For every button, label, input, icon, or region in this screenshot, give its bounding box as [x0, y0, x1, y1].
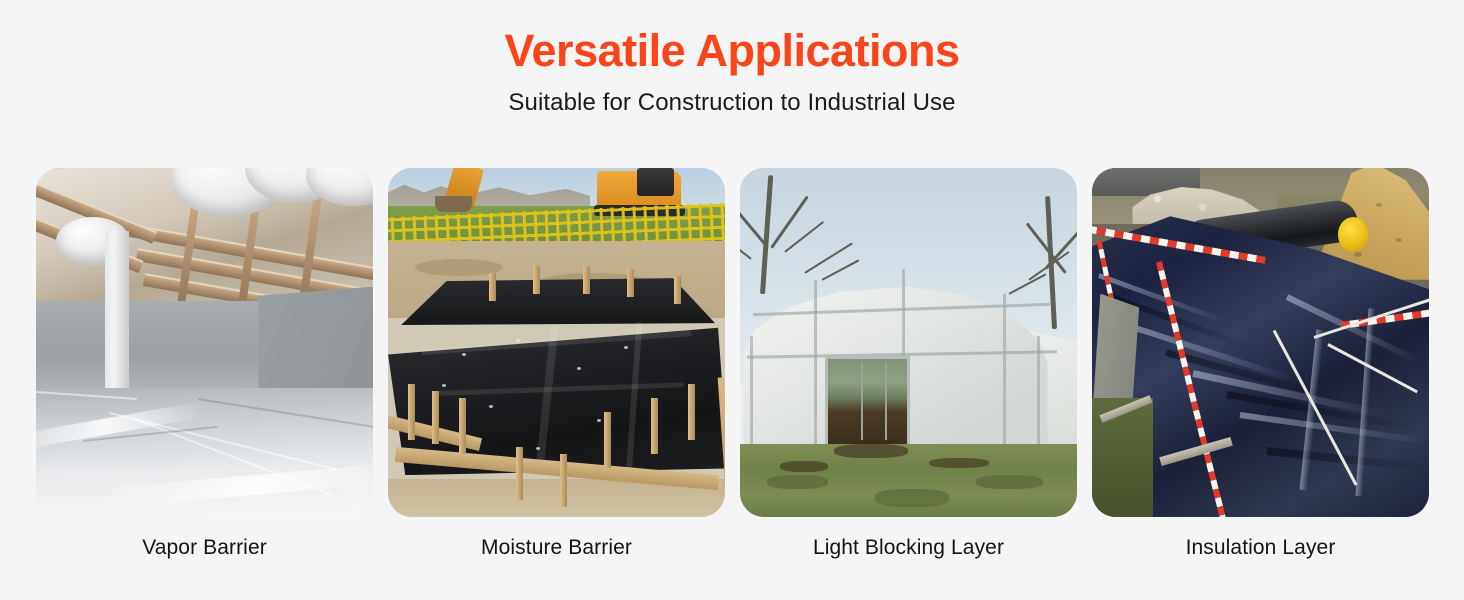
- rebar-stake: [560, 454, 567, 506]
- card-caption: Light Blocking Layer: [813, 536, 1004, 560]
- card-caption: Moisture Barrier: [481, 536, 632, 560]
- grass-tuft: [875, 489, 949, 506]
- rebar-stake: [533, 266, 540, 294]
- page-subtitle: Suitable for Construction to Industrial …: [0, 89, 1464, 118]
- sand-speck: [1376, 203, 1382, 207]
- rebar-stake: [688, 384, 695, 440]
- card-caption: Vapor Barrier: [142, 536, 267, 560]
- rebar-stake: [489, 273, 496, 301]
- application-card-insulation-layer[interactable]: Insulation Layer: [1092, 168, 1429, 560]
- poly-speck: [577, 367, 581, 370]
- sand-speck: [1354, 252, 1362, 257]
- concrete-right-wall: [258, 287, 373, 399]
- rebar-stake: [459, 398, 466, 454]
- photo-moisture-barrier: [388, 168, 725, 517]
- poly-speck: [624, 346, 628, 349]
- rebar-stake: [627, 269, 634, 297]
- rebar-stake: [674, 276, 681, 304]
- excavator-bucket: [435, 196, 472, 212]
- photo-insulation-layer: [1092, 168, 1429, 517]
- yellow-pipe-end-cap: [1338, 217, 1368, 252]
- greenhouse-frame-post: [1003, 294, 1006, 448]
- rebar-stake: [408, 384, 415, 440]
- rebar-stake: [516, 447, 523, 499]
- greenhouse-frame-post: [1037, 336, 1040, 448]
- bare-soil-patch: [834, 444, 908, 458]
- sand-speck: [1396, 238, 1402, 242]
- greenhouse-frame-post: [814, 280, 817, 448]
- doorway-frame: [907, 356, 910, 447]
- photo-vapor-barrier: [36, 168, 373, 517]
- application-cards: Vapor Barrier: [36, 168, 1428, 560]
- rebar-stake: [432, 391, 439, 443]
- card-caption: Insulation Layer: [1186, 536, 1336, 560]
- application-card-light-blocking-layer[interactable]: Light Blocking Layer: [740, 168, 1077, 560]
- grass-tuft: [976, 475, 1043, 489]
- rebar-stake: [583, 266, 590, 294]
- photo-light-blocking-layer: [740, 168, 1077, 517]
- doorway-frame: [825, 356, 828, 447]
- page-title: Versatile Applications: [0, 26, 1464, 76]
- application-card-moisture-barrier[interactable]: Moisture Barrier: [388, 168, 725, 560]
- application-card-vapor-barrier[interactable]: Vapor Barrier: [36, 168, 373, 560]
- grass-tuft: [767, 475, 828, 489]
- header: Versatile Applications Suitable for Cons…: [0, 0, 1464, 118]
- excavator-cab: [637, 168, 674, 196]
- doorway-inner-post: [861, 363, 863, 440]
- greenhouse-frame-post: [750, 336, 753, 448]
- doorway-frame: [828, 356, 909, 359]
- bare-soil-patch: [929, 458, 990, 468]
- greenhouse-open-doorway: [828, 356, 909, 447]
- rebar-stake: [604, 412, 611, 468]
- doorway-inner-post: [885, 363, 887, 440]
- rebar-stake: [651, 398, 658, 454]
- bare-soil-patch: [780, 461, 827, 471]
